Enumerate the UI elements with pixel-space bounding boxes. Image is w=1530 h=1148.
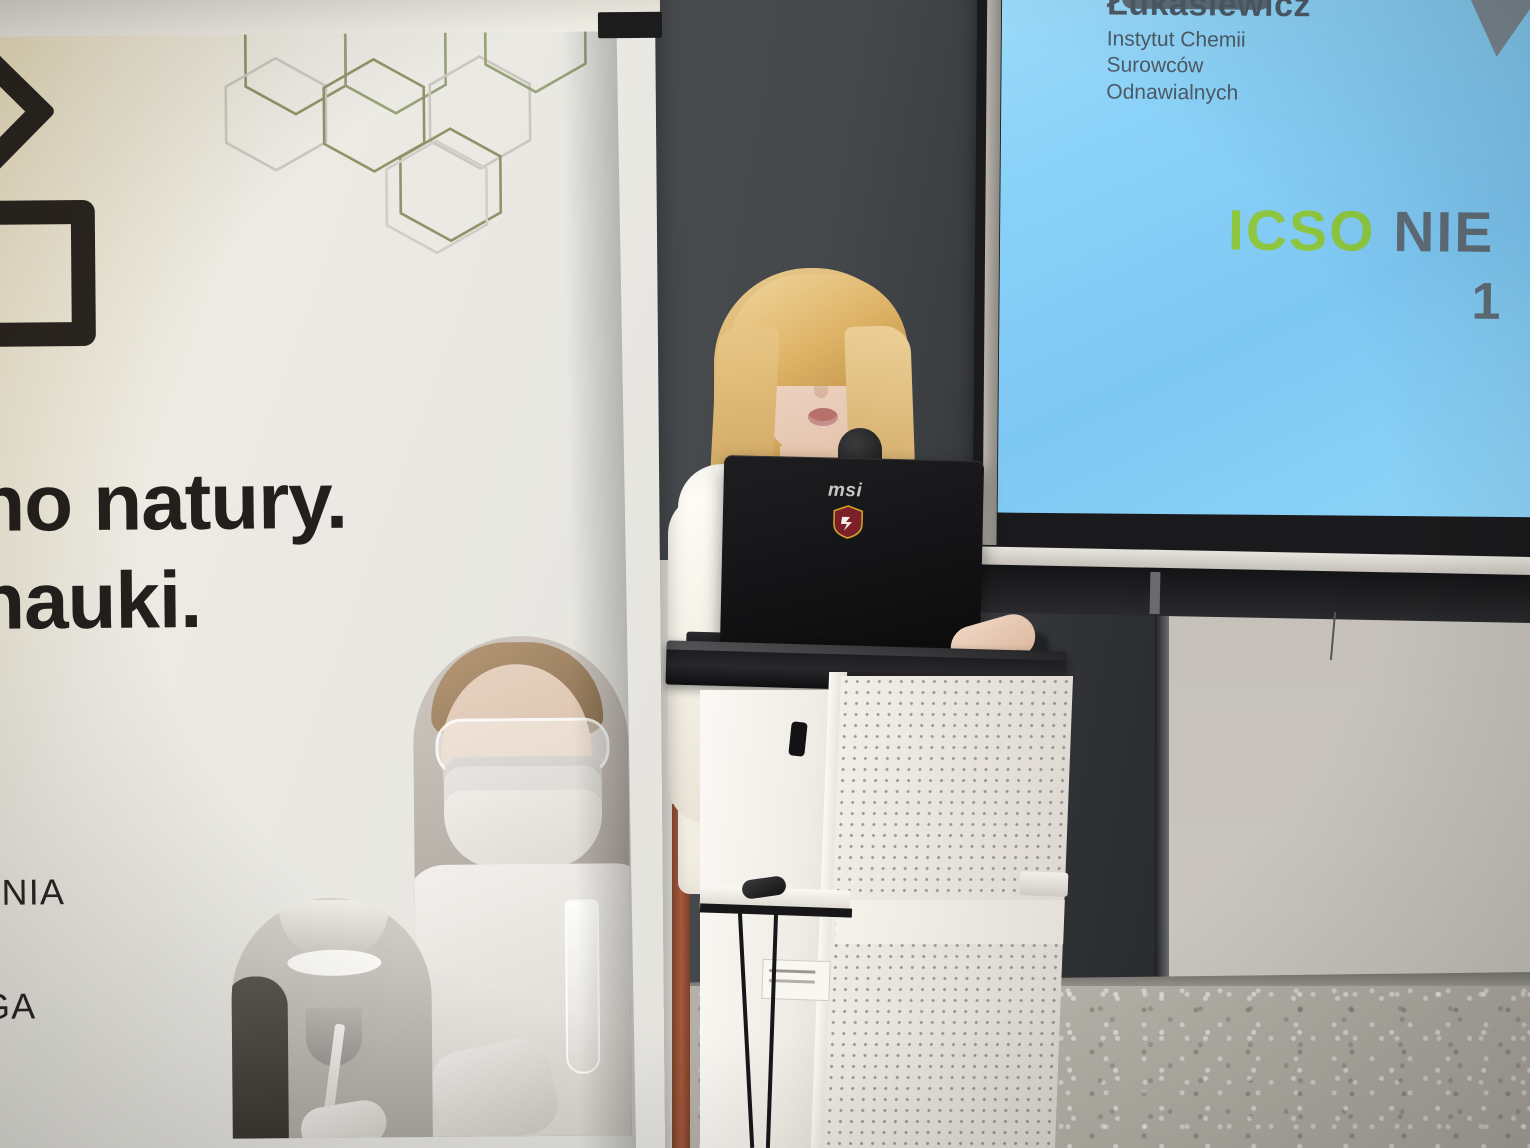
screen-roller-bracket xyxy=(1150,572,1161,614)
slide-logo-subtitle-line-1: Instytut Chemii xyxy=(1107,26,1246,54)
slide-title-rest: NIE xyxy=(1393,200,1495,265)
banner-bullet-list: ANIA ROŻENIA EWAGA xyxy=(0,760,67,1103)
slide-triangle-decoration xyxy=(1402,0,1530,58)
msi-dragon-shield-icon xyxy=(833,505,864,540)
slide-title: ICSO NIE xyxy=(1228,198,1495,266)
banner-bullet-2: ROŻENIA xyxy=(0,874,65,911)
slide-logo-subtitle-line-2: Surowców xyxy=(1106,53,1245,81)
lab-photo-lamp-glow xyxy=(287,949,381,976)
presenter-mouth xyxy=(808,408,838,426)
slide-logo-name: Łukasiewicz xyxy=(1107,0,1311,22)
banner-logo-arrow-icon xyxy=(0,28,56,195)
projection-screen-surface: Łukasiewicz Instytut Chemii Surowców Odn… xyxy=(998,0,1530,517)
lab-photo-researcher xyxy=(231,976,289,1138)
banner-headline-line-1: ękno natury. xyxy=(0,456,347,549)
slide-logo-subtitle: Instytut Chemii Surowców Odnawialnych xyxy=(1106,26,1246,107)
hexagon-pattern-icon xyxy=(185,0,609,411)
lab-bench-photo xyxy=(231,897,433,1139)
banner-top-end-cap xyxy=(598,12,662,39)
banner-bullet-3: EWAGA xyxy=(0,988,66,1025)
banner-top-rail xyxy=(0,0,660,37)
rollup-banner: wicz mii ch ękno natury. ła nauki. ANIA … xyxy=(0,0,665,1148)
slide-title-highlight: ICSO xyxy=(1228,199,1376,264)
lectern-side-shelf xyxy=(1020,871,1069,897)
slide-number: 1 xyxy=(1471,272,1500,332)
msi-wordmark: msi xyxy=(828,480,863,503)
lectern-solid-band xyxy=(835,900,1065,944)
lab-photo-gloved-hand xyxy=(298,1097,390,1139)
lectern-front-panel xyxy=(700,690,830,1148)
banner-logo-rect-icon xyxy=(0,200,96,348)
banner-bullet-1: ANIA xyxy=(0,760,64,797)
slide-logo-subtitle-line-3: Odnawialnych xyxy=(1106,79,1245,107)
banner-headline: ękno natury. ła nauki. xyxy=(0,449,611,650)
conference-photo-scene: Łukasiewicz Instytut Chemii Surowców Odn… xyxy=(0,0,1530,1148)
